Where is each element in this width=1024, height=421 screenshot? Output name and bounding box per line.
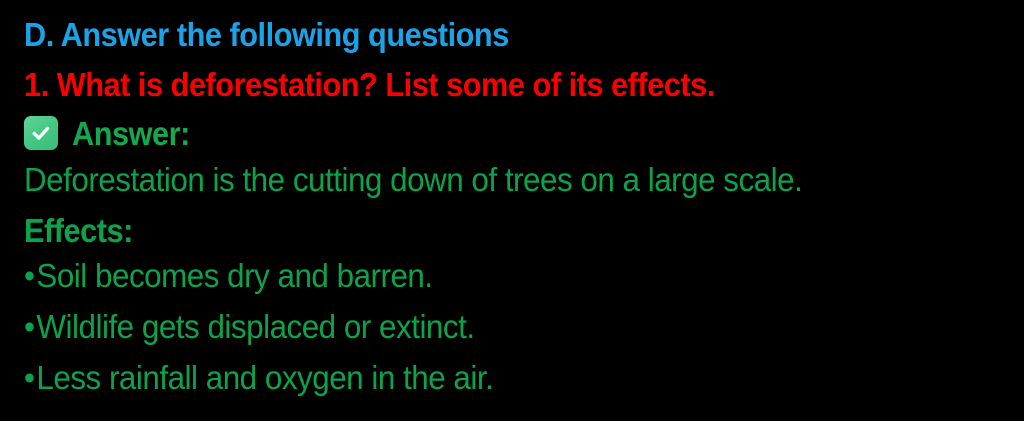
effect-text: Wildlife gets displaced or extinct.: [36, 310, 474, 343]
effect-list-item: • Soil becomes dry and barren.: [24, 259, 433, 292]
effect-text: Less rainfall and oxygen in the air.: [36, 361, 493, 394]
answer-sheet: D. Answer the following questions 1. Wha…: [0, 0, 1024, 421]
bullet-dot-icon: •: [24, 310, 35, 343]
question-text: 1. What is deforestation? List some of i…: [24, 68, 715, 101]
answer-label-row: Answer:: [24, 110, 199, 156]
bullet-dot-icon: •: [24, 361, 35, 394]
section-heading: D. Answer the following questions: [24, 18, 509, 51]
effect-list-item: • Wildlife gets displaced or extinct.: [24, 310, 475, 343]
effects-heading: Effects:: [24, 214, 133, 247]
effect-list-item: • Less rainfall and oxygen in the air.: [24, 361, 493, 394]
answer-label: Answer:: [72, 117, 190, 150]
effect-text: Soil becomes dry and barren.: [36, 259, 432, 292]
bullet-dot-icon: •: [24, 259, 35, 292]
answer-sentence: Deforestation is the cutting down of tre…: [24, 163, 802, 196]
green-check-box-icon: [24, 116, 58, 150]
